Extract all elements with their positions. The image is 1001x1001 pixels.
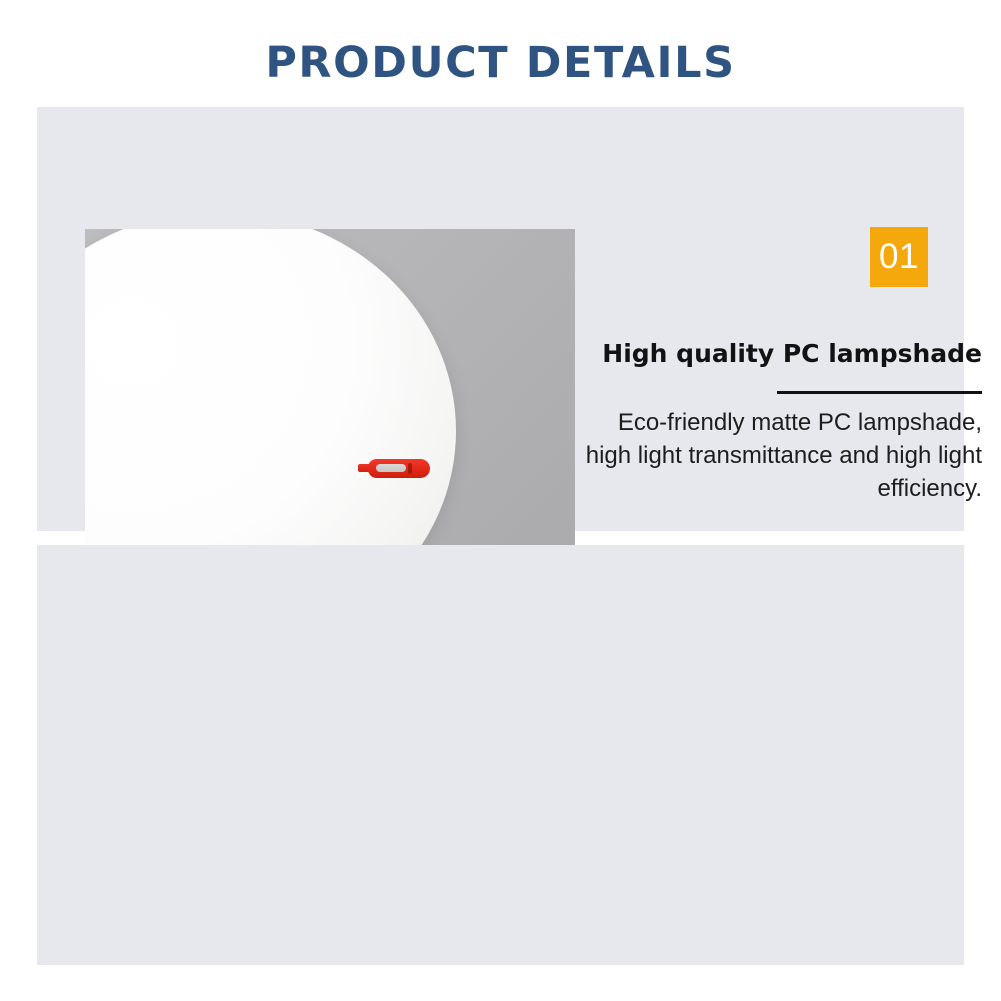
clip-slot [376, 464, 406, 472]
section-panel-02: 02 Cut Hole Adjustable Applicable to dif… [37, 545, 964, 965]
product-details-page: PRODUCT DETAILS 01 High quality PC lamps… [0, 0, 1001, 1001]
red-spring-clip-icon [368, 457, 430, 479]
page-title: PRODUCT DETAILS [0, 42, 1001, 85]
section-text-01: High quality PC lampshade Eco-friendly m… [577, 339, 982, 505]
step-badge-01: 01 [870, 227, 928, 287]
section-body-01: Eco-friendly matte PC lampshade, high li… [577, 406, 982, 505]
page-title-bar: PRODUCT DETAILS [0, 42, 1001, 85]
section-heading-01: High quality PC lampshade [577, 339, 982, 369]
clip-notch [408, 463, 412, 474]
section-panel-01: 01 High quality PC lampshade Eco-friendl… [37, 107, 964, 531]
section-divider-01 [777, 391, 982, 394]
